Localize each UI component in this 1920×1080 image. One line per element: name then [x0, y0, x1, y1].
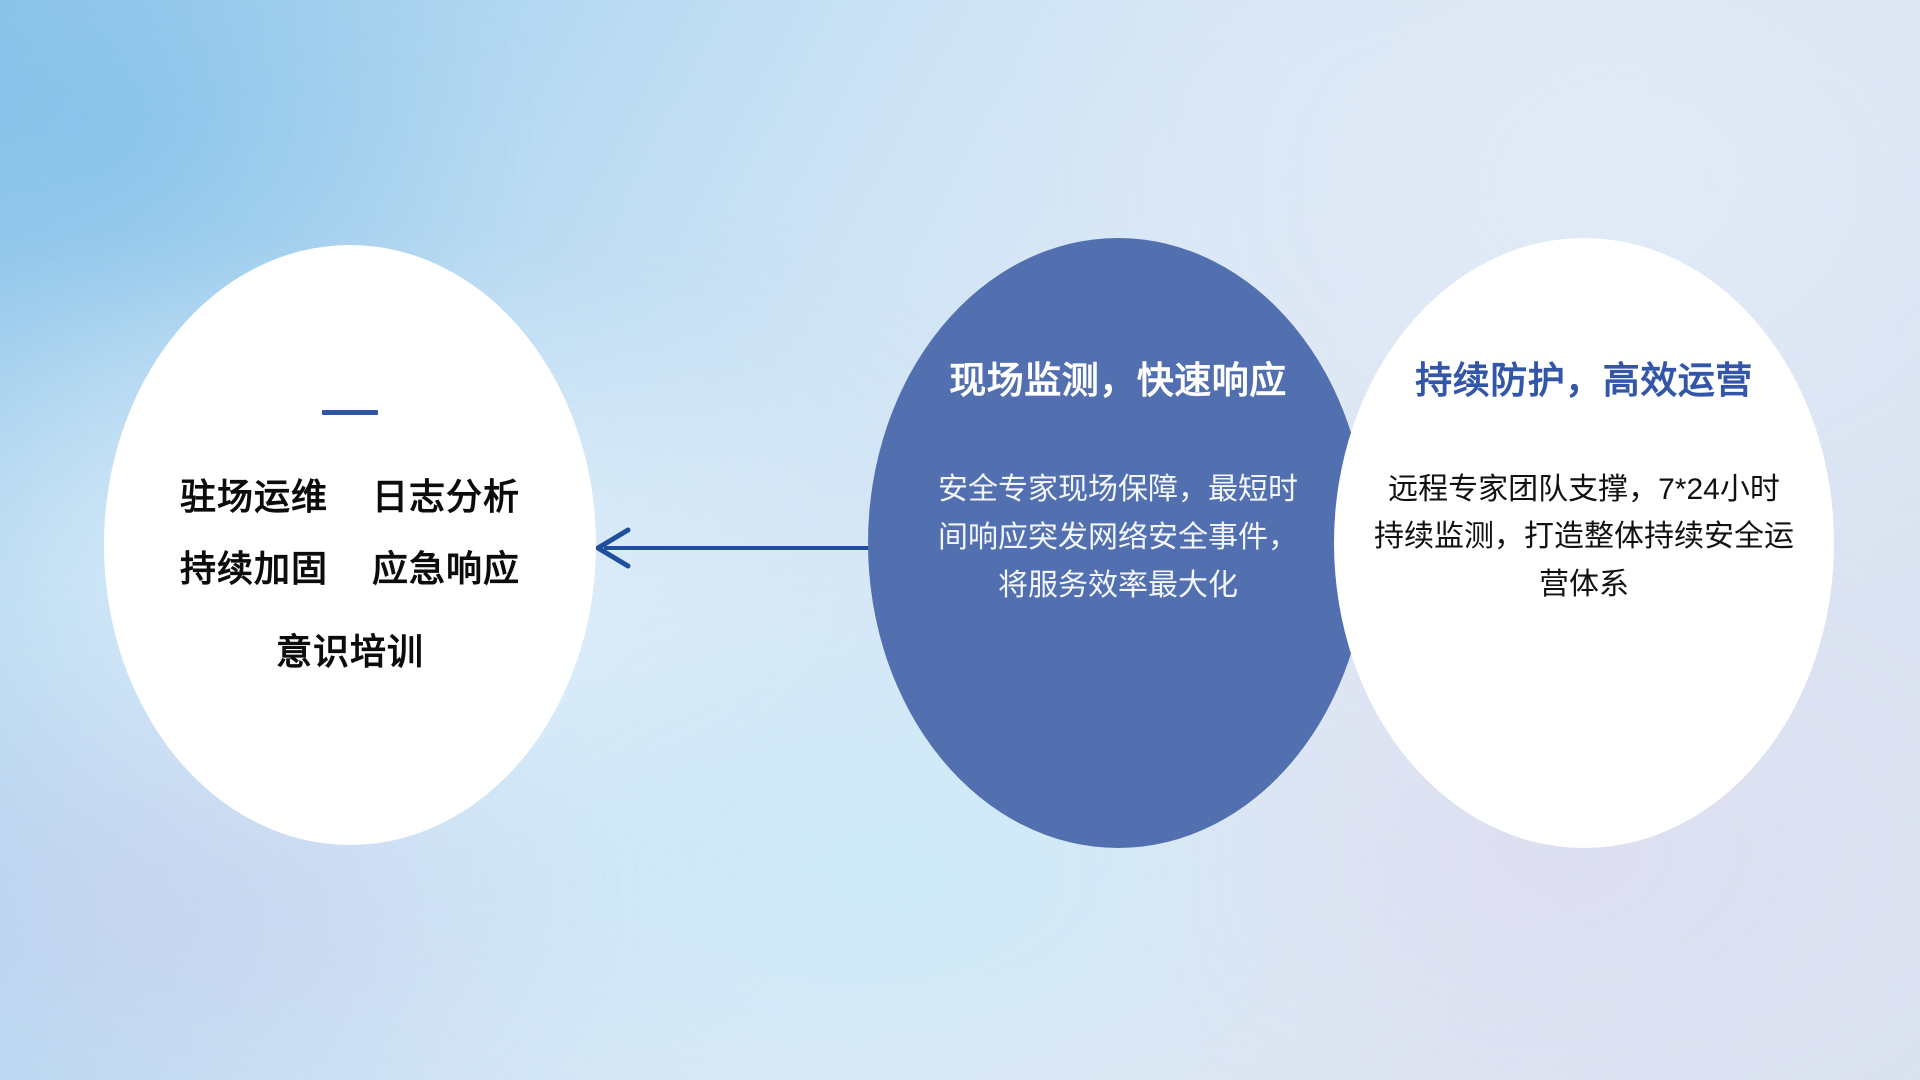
- service-circle-remote-body: 远程专家团队支撑，7*24小时持续监测，打造整体持续安全运营体系: [1374, 466, 1794, 608]
- service-circle-onsite-heading: 现场监测，快速响应: [949, 350, 1287, 404]
- capability-line-2: 持续加固 应急响应: [180, 549, 520, 589]
- service-circle-remote-heading: 持续防护，高效运营: [1415, 350, 1753, 404]
- accent-divider-dash: [322, 410, 378, 415]
- capability-line-1: 驻场运维 日志分析: [180, 477, 520, 517]
- capability-circle-left[interactable]: 驻场运维 日志分析 持续加固 应急响应 意识培训: [104, 245, 596, 845]
- capability-circle-left-content: 驻场运维 日志分析 持续加固 应急响应 意识培训: [104, 410, 596, 672]
- service-circle-onsite[interactable]: 现场监测，快速响应 安全专家现场保障，最短时间响应突发网络安全事件，将服务效率最…: [868, 238, 1368, 848]
- capability-line-3: 意识培训: [276, 632, 424, 672]
- service-circle-remote[interactable]: 持续防护，高效运营 远程专家团队支撑，7*24小时持续监测，打造整体持续安全运营…: [1334, 238, 1834, 848]
- slide-canvas: 驻场运维 日志分析 持续加固 应急响应 意识培训 现场监测，快速响应 安全专家现…: [0, 0, 1920, 1080]
- service-circle-onsite-body: 安全专家现场保障，最短时间响应突发网络安全事件，将服务效率最大化: [933, 466, 1303, 610]
